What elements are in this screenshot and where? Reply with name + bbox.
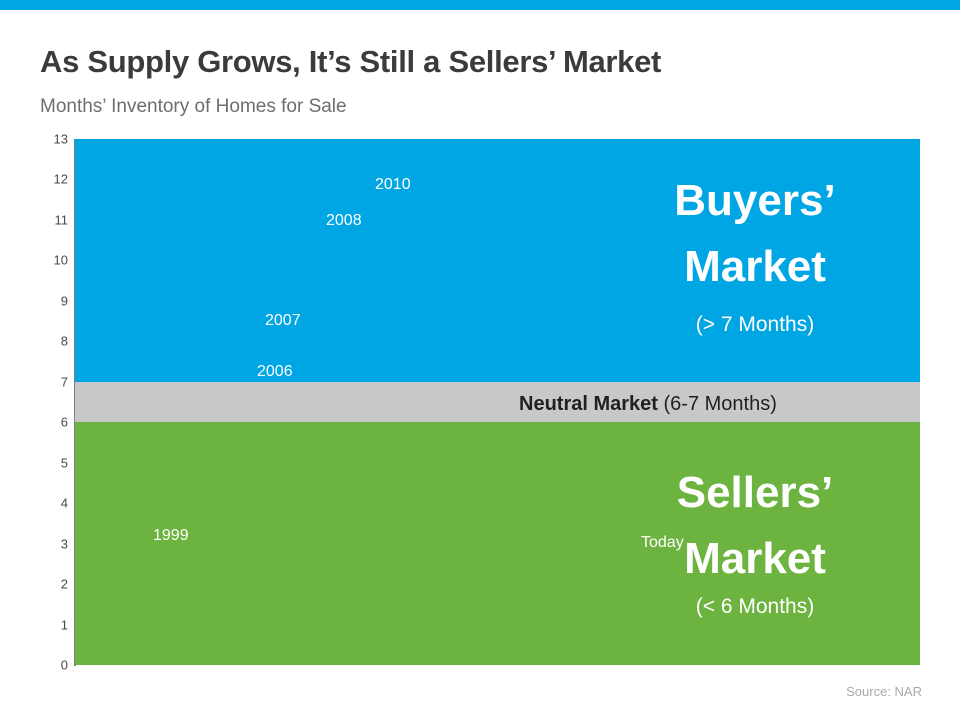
y-axis-tick-label: 7: [8, 374, 68, 389]
y-axis-tick-label: 11: [8, 212, 68, 227]
neutral-market-label: Neutral Market (6-7 Months): [519, 393, 777, 416]
year-annotation: Today: [641, 534, 684, 552]
sellers-market-note: (< 6 Months): [590, 595, 920, 619]
y-axis-tick-label: 8: [8, 334, 68, 349]
source-label: Source: NAR: [846, 684, 922, 699]
top-accent-bar: [0, 0, 960, 10]
page-subtitle: Months’ Inventory of Homes for Sale: [40, 96, 347, 118]
y-axis-tick-label: 9: [8, 293, 68, 308]
sellers-market-title-line1: Sellers’: [590, 470, 920, 516]
buyers-market-note: (> 7 Months): [590, 313, 920, 337]
neutral-market-title: Neutral Market: [519, 393, 658, 415]
y-axis-tick-label: 0: [8, 658, 68, 673]
band-neutral-market: [75, 382, 920, 422]
year-annotation: 2006: [257, 363, 293, 381]
y-axis-tick-label: 4: [8, 496, 68, 511]
neutral-market-note: (6-7 Months): [664, 393, 777, 415]
buyers-market-title-line2: Market: [590, 244, 920, 290]
y-axis-tick-label: 12: [8, 172, 68, 187]
year-annotation: 2007: [265, 312, 301, 330]
y-axis-tick-label: 3: [8, 536, 68, 551]
sellers-market-title-line2: Market: [590, 536, 920, 582]
y-axis-tick-label: 10: [8, 253, 68, 268]
page-title: As Supply Grows, It’s Still a Sellers’ M…: [40, 44, 661, 80]
year-annotation: 1999: [153, 527, 189, 545]
y-axis-tick-label: 1: [8, 617, 68, 632]
buyers-market-title-line1: Buyers’: [590, 178, 920, 224]
y-axis-tick-label: 13: [8, 132, 68, 147]
y-axis-tick-label: 2: [8, 577, 68, 592]
y-axis-tick-label: 6: [8, 415, 68, 430]
y-axis-tick-label: 5: [8, 455, 68, 470]
year-annotation: 2010: [375, 176, 411, 194]
y-axis-ticks: 131211109876543210: [0, 0, 68, 720]
year-annotation: 2008: [326, 212, 362, 230]
